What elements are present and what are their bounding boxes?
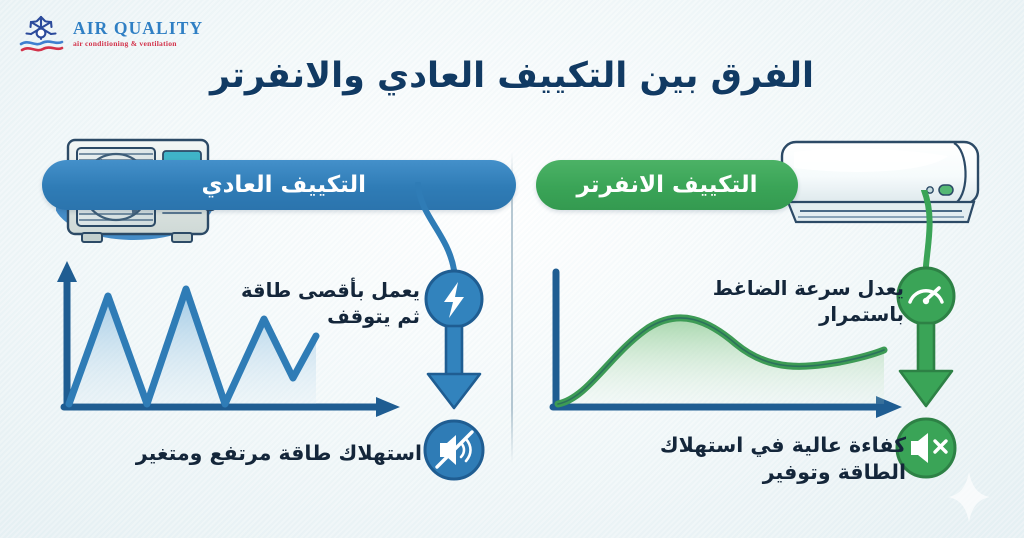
regular-ac-behavior-text: يعمل بأقصى طاقة ثم يتوقف [208, 278, 420, 329]
infographic-canvas: AIR QUALITY air conditioning & ventilati… [0, 0, 1024, 538]
inverter-ac-efficiency-line1: كفاءة عالية في استهلاك [620, 432, 906, 459]
connector-curve [924, 190, 930, 266]
speed-gauge-icon [898, 268, 954, 324]
logo-tagline: air conditioning & ventilation [73, 40, 203, 48]
inverter-ac-behavior-line1: يعدل سرعة الضاغط [688, 276, 904, 302]
inverter-ac-efficiency-line2: الطاقة وتوفير [620, 459, 906, 486]
inverter-ac-behavior-line2: باستمرار [688, 302, 904, 328]
logo-wordmark: AIR QUALITY air conditioning & ventilati… [73, 20, 203, 48]
down-arrow-icon [900, 323, 952, 406]
page-title: الفرق بين التكييف العادي والانفرتر [0, 56, 1024, 96]
regular-ac-behavior-line2: ثم يتوقف [208, 304, 420, 330]
inverter-ac-efficiency-text: كفاءة عالية في استهلاك الطاقة وتوفير [620, 432, 906, 486]
logo-brand-name: AIR QUALITY [73, 20, 203, 38]
banner-inverter-ac-label: التكييف الانفرتر [577, 172, 758, 198]
sparkle-icon [946, 470, 992, 524]
inverter-ac-behavior-text: يعدل سرعة الضاغط باستمرار [688, 276, 904, 327]
connector-curve [418, 184, 454, 270]
lightning-bolt-icon [426, 271, 482, 327]
regular-ac-consumption-text: استهلاك طاقة مرتفع ومتغير [82, 440, 422, 467]
snowflake-icon [18, 12, 64, 56]
banner-inverter-ac[interactable]: التكييف الانفرتر [536, 160, 798, 210]
regular-ac-behavior-line1: يعمل بأقصى طاقة [208, 278, 420, 304]
brand-logo: AIR QUALITY air conditioning & ventilati… [18, 12, 203, 56]
flow-regular-ac [404, 182, 508, 482]
down-arrow-icon [428, 326, 480, 408]
speaker-noise-icon [425, 421, 483, 479]
